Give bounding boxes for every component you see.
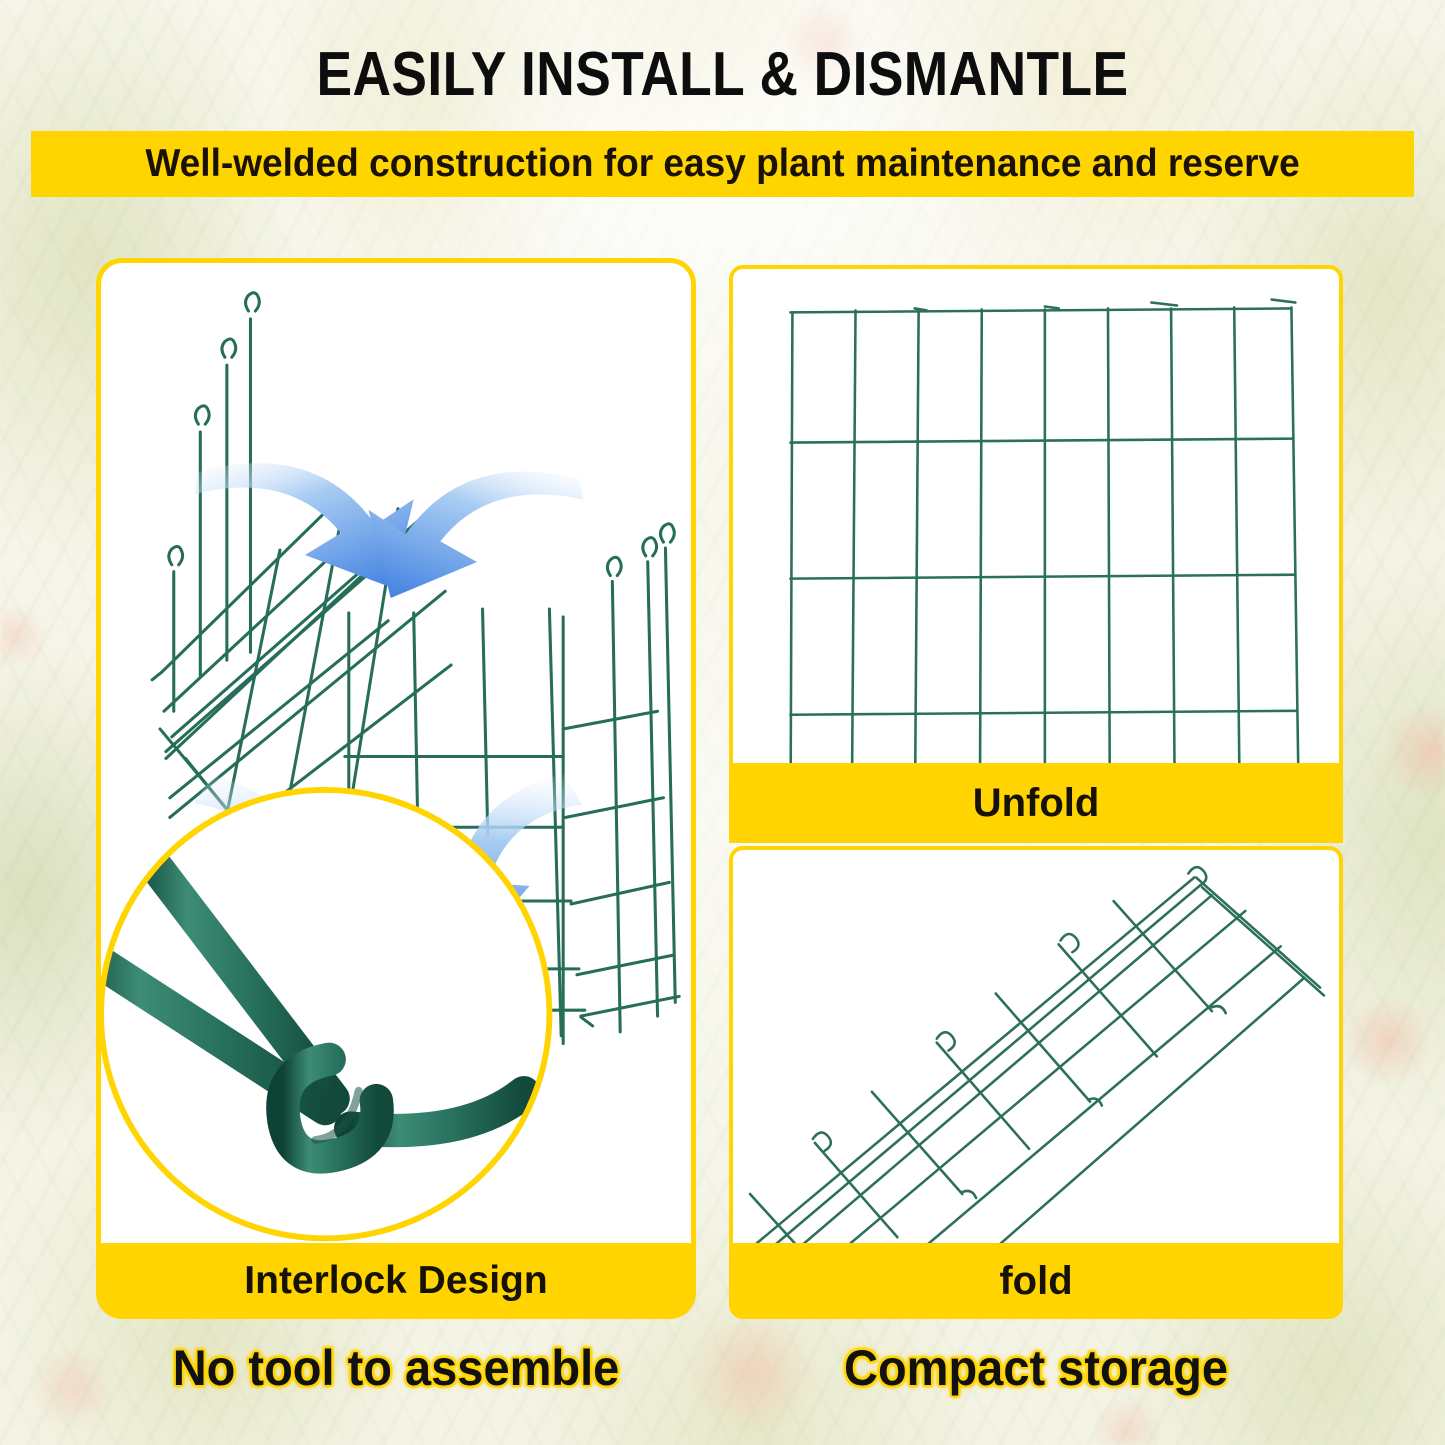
caption-compact-storage: Compact storage	[747, 1340, 1324, 1396]
band-fold-label: fold	[999, 1259, 1072, 1304]
band-unfold-label: Unfold	[973, 781, 1100, 826]
folding-cage-illustration	[101, 263, 691, 1307]
wire-mesh-illustration	[733, 269, 1339, 839]
subtitle-banner: Well-welded construction for easy plant …	[31, 131, 1414, 197]
band-fold: fold	[729, 1243, 1343, 1319]
folded-panel-illustration	[733, 850, 1339, 1308]
caption-no-tool-text: No tool to assemble	[173, 1340, 620, 1396]
panel-unfold	[729, 265, 1343, 843]
magnifier-circle-icon	[101, 729, 549, 1238]
band-unfold: Unfold	[729, 763, 1343, 843]
band-interlock: Interlock Design	[96, 1243, 696, 1319]
infographic-page: EASILY INSTALL & DISMANTLE Well-welded c…	[0, 0, 1445, 1445]
page-title: EASILY INSTALL & DISMANTLE	[101, 42, 1344, 108]
panel-interlock	[96, 258, 696, 1312]
caption-compact-storage-text: Compact storage	[844, 1340, 1228, 1396]
caption-no-tool: No tool to assemble	[114, 1340, 678, 1396]
band-interlock-label: Interlock Design	[244, 1259, 547, 1303]
subtitle-text: Well-welded construction for easy plant …	[145, 142, 1299, 186]
